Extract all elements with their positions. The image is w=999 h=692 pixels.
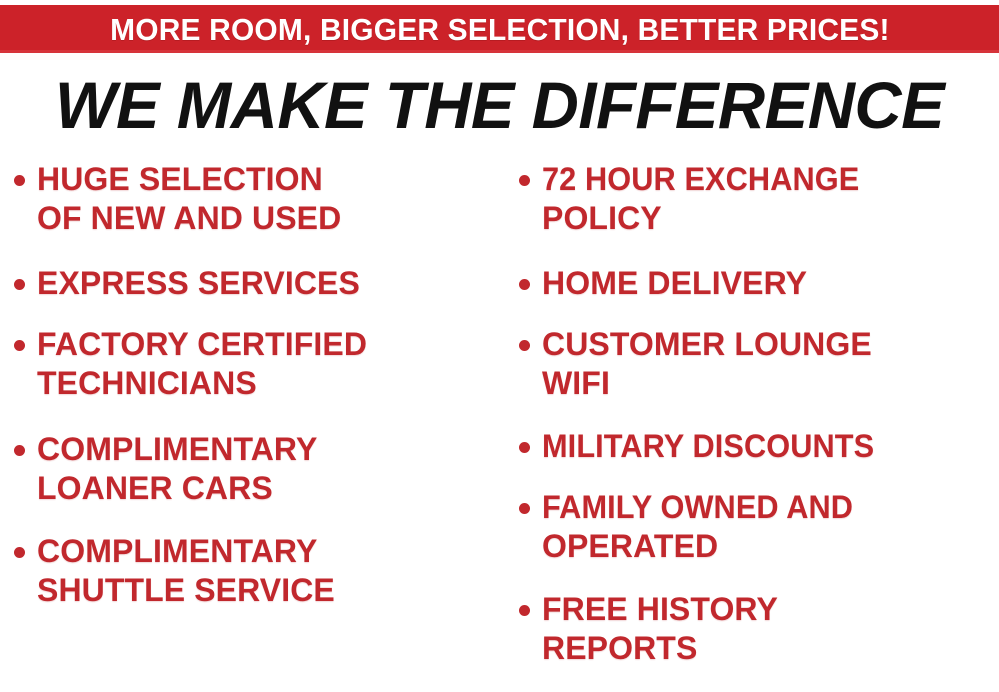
benefit-list-item: EXPRESS SERVICES	[14, 264, 505, 303]
benefit-text-line: COMPLIMENTARY	[37, 430, 317, 469]
promo-bar: MORE ROOM, BIGGER SELECTION, BETTER PRIC…	[0, 5, 999, 53]
benefits-column-left: HUGE SELECTIONOF NEW AND USEDEXPRESS SER…	[0, 160, 505, 632]
bullet-dot-icon	[14, 445, 25, 456]
benefit-list-item: MILITARY DISCOUNTS	[519, 427, 999, 466]
benefit-list-item: FACTORY CERTIFIEDTECHNICIANS	[14, 325, 505, 403]
benefits-column-right: 72 HOUR EXCHANGEPOLICYHOME DELIVERYCUSTO…	[505, 160, 999, 690]
benefit-list-item: COMPLIMENTARYSHUTTLE SERVICE	[14, 532, 505, 610]
benefit-list-item-label: COMPLIMENTARYSHUTTLE SERVICE	[37, 532, 335, 610]
benefit-text-line: SHUTTLE SERVICE	[37, 571, 335, 610]
bullet-dot-icon	[519, 340, 530, 351]
bullet-dot-icon	[14, 279, 25, 290]
benefit-list-item-label: FAMILY OWNED ANDOPERATED	[542, 488, 866, 566]
benefit-text-line: WIFI	[542, 364, 872, 403]
bullet-dot-icon	[519, 442, 530, 453]
benefit-text-line: COMPLIMENTARY	[37, 532, 335, 571]
benefit-list-item-label: HOME DELIVERY	[542, 264, 807, 303]
benefit-list-item: COMPLIMENTARYLOANER CARS	[14, 430, 505, 508]
dealership-promo-banner: MORE ROOM, BIGGER SELECTION, BETTER PRIC…	[0, 0, 999, 692]
benefit-list-item: 72 HOUR EXCHANGEPOLICY	[519, 160, 999, 238]
benefit-text-line: HUGE SELECTION	[37, 160, 341, 199]
benefit-text-line: EXPRESS SERVICES	[37, 264, 360, 303]
benefit-list-item-label: EXPRESS SERVICES	[37, 264, 360, 303]
bullet-dot-icon	[519, 503, 530, 514]
benefit-text-line: POLICY	[542, 199, 873, 238]
benefit-list-item-label: COMPLIMENTARYLOANER CARS	[37, 430, 317, 508]
benefit-text-line: LOANER CARS	[37, 469, 317, 508]
benefit-text-line: MILITARY DISCOUNTS	[542, 427, 888, 466]
bullet-dot-icon	[14, 340, 25, 351]
benefit-list-item-label: CUSTOMER LOUNGEWIFI	[542, 325, 872, 403]
benefit-text-line: HOME DELIVERY	[542, 264, 807, 303]
benefit-text-line: OF NEW AND USED	[37, 199, 341, 238]
benefit-text-line: OPERATED	[542, 527, 866, 566]
bullet-dot-icon	[14, 175, 25, 186]
benefit-text-line: TECHNICIANS	[37, 364, 367, 403]
benefit-list-item-label: HUGE SELECTIONOF NEW AND USED	[37, 160, 341, 238]
benefit-text-line: FREE HISTORY	[542, 590, 778, 629]
benefit-list-item-label: MILITARY DISCOUNTS	[542, 427, 888, 466]
page-title: WE MAKE THE DIFFERENCE	[5, 72, 994, 138]
benefit-list-item: FAMILY OWNED ANDOPERATED	[519, 488, 999, 566]
benefit-list-item: CUSTOMER LOUNGEWIFI	[519, 325, 999, 403]
benefit-list-item: HOME DELIVERY	[519, 264, 999, 303]
benefit-text-line: CUSTOMER LOUNGE	[542, 325, 872, 364]
benefit-list-item: FREE HISTORYREPORTS	[519, 590, 999, 668]
benefit-list-item-label: 72 HOUR EXCHANGEPOLICY	[542, 160, 873, 238]
benefit-list-item-label: FACTORY CERTIFIEDTECHNICIANS	[37, 325, 367, 403]
benefit-text-line: FACTORY CERTIFIED	[37, 325, 367, 364]
benefit-text-line: 72 HOUR EXCHANGE	[542, 160, 873, 199]
promo-bar-text: MORE ROOM, BIGGER SELECTION, BETTER PRIC…	[110, 14, 889, 45]
benefit-text-line: REPORTS	[542, 629, 778, 668]
benefit-list-item-label: FREE HISTORYREPORTS	[542, 590, 778, 668]
bullet-dot-icon	[519, 605, 530, 616]
benefits-columns: HUGE SELECTIONOF NEW AND USEDEXPRESS SER…	[0, 160, 999, 692]
bullet-dot-icon	[14, 547, 25, 558]
bullet-dot-icon	[519, 175, 530, 186]
bullet-dot-icon	[519, 279, 530, 290]
benefit-list-item: HUGE SELECTIONOF NEW AND USED	[14, 160, 505, 238]
benefit-text-line: FAMILY OWNED AND	[542, 488, 866, 527]
